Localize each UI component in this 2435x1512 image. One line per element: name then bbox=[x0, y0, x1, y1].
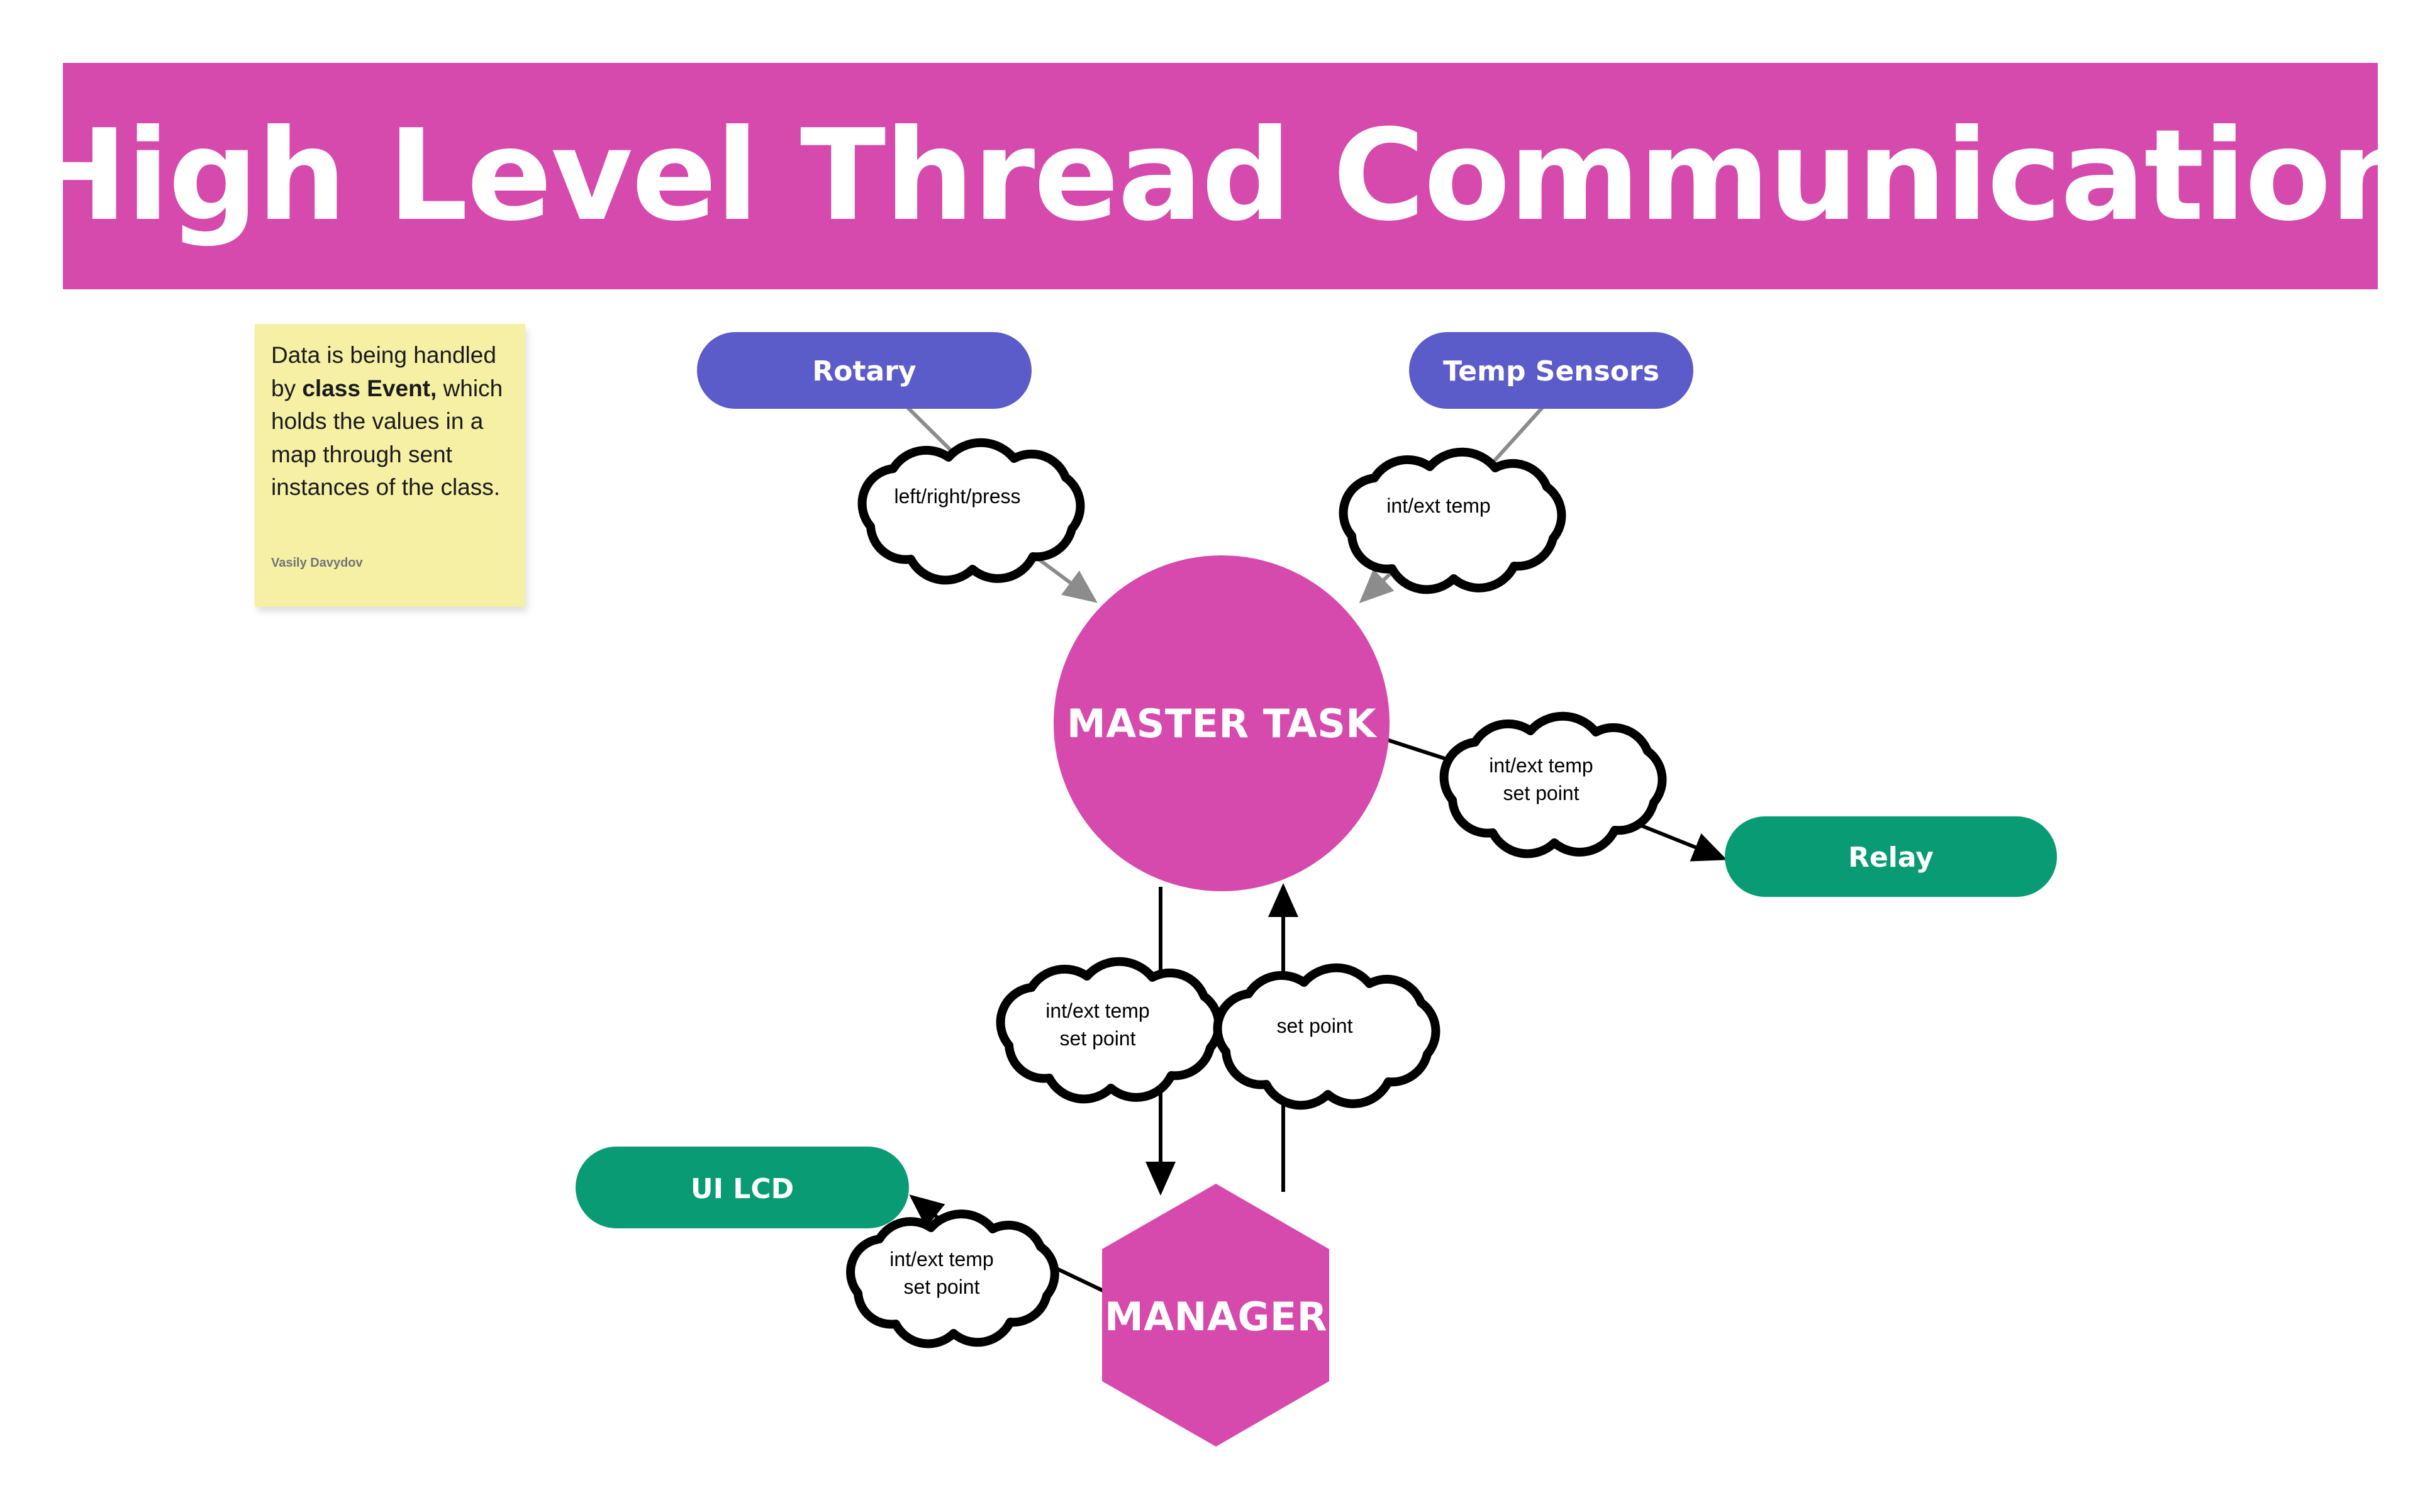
cloud-master-to-manager: int/ext temp set point bbox=[1001, 962, 1219, 1099]
node-temp-sensors-label: Temp Sensors bbox=[1443, 355, 1659, 387]
node-rotary[interactable]: Rotary bbox=[697, 332, 1032, 409]
node-relay[interactable]: Relay bbox=[1725, 816, 2057, 897]
cloud-temp-readings-line-1: int/ext temp bbox=[1386, 494, 1490, 517]
cloud-relay-setpoint: int/ext temp set point bbox=[1444, 716, 1663, 854]
cloud-relay-setpoint-line-1: int/ext temp bbox=[1489, 754, 1593, 777]
node-relay-label: Relay bbox=[1848, 842, 1934, 874]
cloud-manager-to-master-line-1: set point bbox=[1277, 1014, 1353, 1037]
cloud-temp-readings: int/ext temp bbox=[1344, 452, 1562, 590]
node-master-task[interactable]: MASTER TASK bbox=[1054, 555, 1390, 891]
node-ui-lcd-label: UI LCD bbox=[691, 1173, 794, 1205]
cloud-temp-readings-shape bbox=[1344, 452, 1562, 590]
cloud-manager-to-lcd-line-1: int/ext temp bbox=[889, 1248, 993, 1270]
cloud-rotary-events: left/right/press bbox=[862, 443, 1081, 581]
node-manager[interactable]: MANAGER bbox=[1102, 1184, 1329, 1447]
cloud-rotary-events-line-1: left/right/press bbox=[894, 485, 1021, 508]
cloud-master-to-manager-line-2: set point bbox=[1060, 1027, 1136, 1050]
cloud-rotary-events-shape bbox=[862, 443, 1081, 581]
node-rotary-label: Rotary bbox=[812, 355, 916, 387]
node-manager-label: MANAGER bbox=[1105, 1294, 1327, 1340]
node-master-task-label: MASTER TASK bbox=[1067, 701, 1377, 747]
node-temp-sensors[interactable]: Temp Sensors bbox=[1409, 332, 1693, 409]
diagram-canvas: High Level Thread Communication Data is … bbox=[0, 0, 2435, 1512]
cloud-manager-to-master: set point bbox=[1218, 968, 1436, 1106]
cloud-master-to-manager-line-1: int/ext temp bbox=[1045, 999, 1149, 1022]
cloud-manager-to-lcd: int/ext temp set point bbox=[850, 1214, 1055, 1343]
cloud-relay-setpoint-line-2: set point bbox=[1503, 782, 1580, 804]
diagram-graph: Rotary Temp Sensors MASTER TASK Relay UI… bbox=[0, 0, 2435, 1512]
cloud-manager-to-lcd-line-2: set point bbox=[904, 1276, 980, 1298]
node-ui-lcd[interactable]: UI LCD bbox=[576, 1147, 909, 1228]
